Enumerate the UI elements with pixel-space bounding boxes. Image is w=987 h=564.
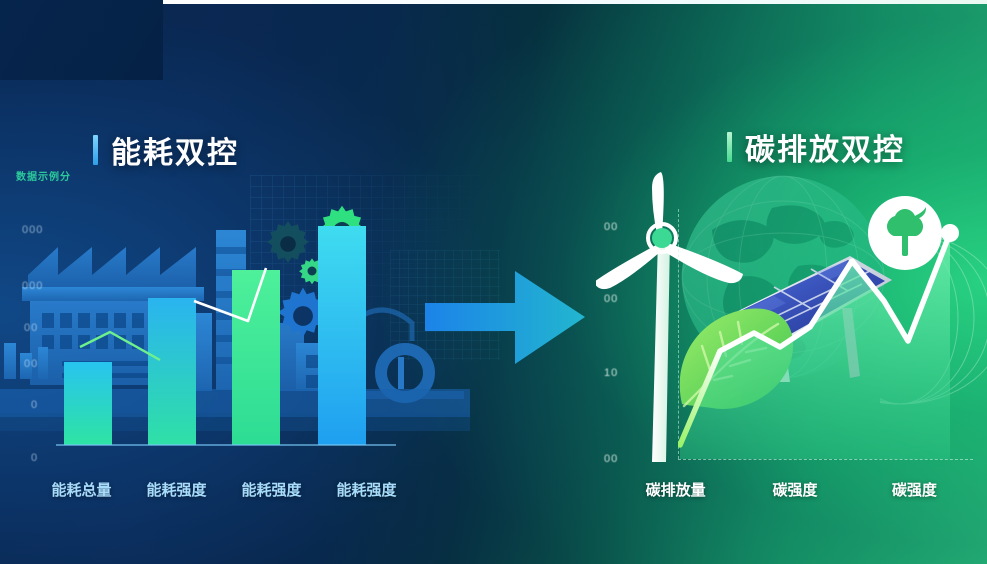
right-arrow-icon [417, 265, 592, 370]
left-panel-title: 能耗双控 [93, 128, 239, 172]
y-axis-label: 10 [604, 367, 618, 379]
energy-category-labels: 能耗总量 能耗强度 能耗强度 能耗强度 [34, 479, 414, 500]
page-title-right: 碳排放双控 [745, 125, 905, 169]
category-label: 能耗强度 [319, 479, 414, 500]
y-axis-label: 0 [31, 452, 38, 464]
energy-bar-chart: 000 000 00 00 0 0 [0, 180, 470, 480]
top-white-strip [163, 0, 987, 4]
y-axis-label: 00 [24, 358, 38, 370]
chart-subnote: 数据示例分 [16, 168, 71, 183]
area-series-group [678, 205, 978, 463]
y-axis-label: 0 [31, 399, 38, 411]
y-axis-label: 00 [604, 453, 618, 465]
top-left-overlay-block [0, 0, 163, 80]
category-label: 能耗强度 [224, 479, 319, 500]
data-point-marker [941, 224, 959, 242]
category-label: 碳强度 [855, 479, 974, 500]
right-panel-title: 碳排放双控 [727, 125, 905, 169]
infographic-canvas: 000 000 00 00 0 0 [0, 0, 987, 564]
y-axis-label: 00 [604, 221, 618, 233]
category-label: 碳强度 [735, 479, 854, 500]
category-label: 能耗总量 [34, 479, 129, 500]
title-accent-bar [93, 135, 98, 165]
y-axis-label: 00 [604, 293, 618, 305]
carbon-area-chart: 00 00 10 00 [596, 195, 987, 480]
bar-series-group [56, 194, 396, 466]
y-axis-label: 000 [22, 224, 43, 236]
title-accent-bar [727, 132, 732, 162]
bar [64, 362, 112, 445]
category-label: 碳排放量 [616, 479, 735, 500]
category-label: 能耗强度 [129, 479, 224, 500]
y-axis-label: 00 [24, 322, 38, 334]
bar [318, 226, 366, 445]
carbon-category-labels: 碳排放量 碳强度 碳强度 [616, 479, 974, 500]
bar [148, 298, 196, 445]
page-title-left: 能耗双控 [111, 128, 239, 172]
y-axis-label: 000 [22, 280, 43, 292]
